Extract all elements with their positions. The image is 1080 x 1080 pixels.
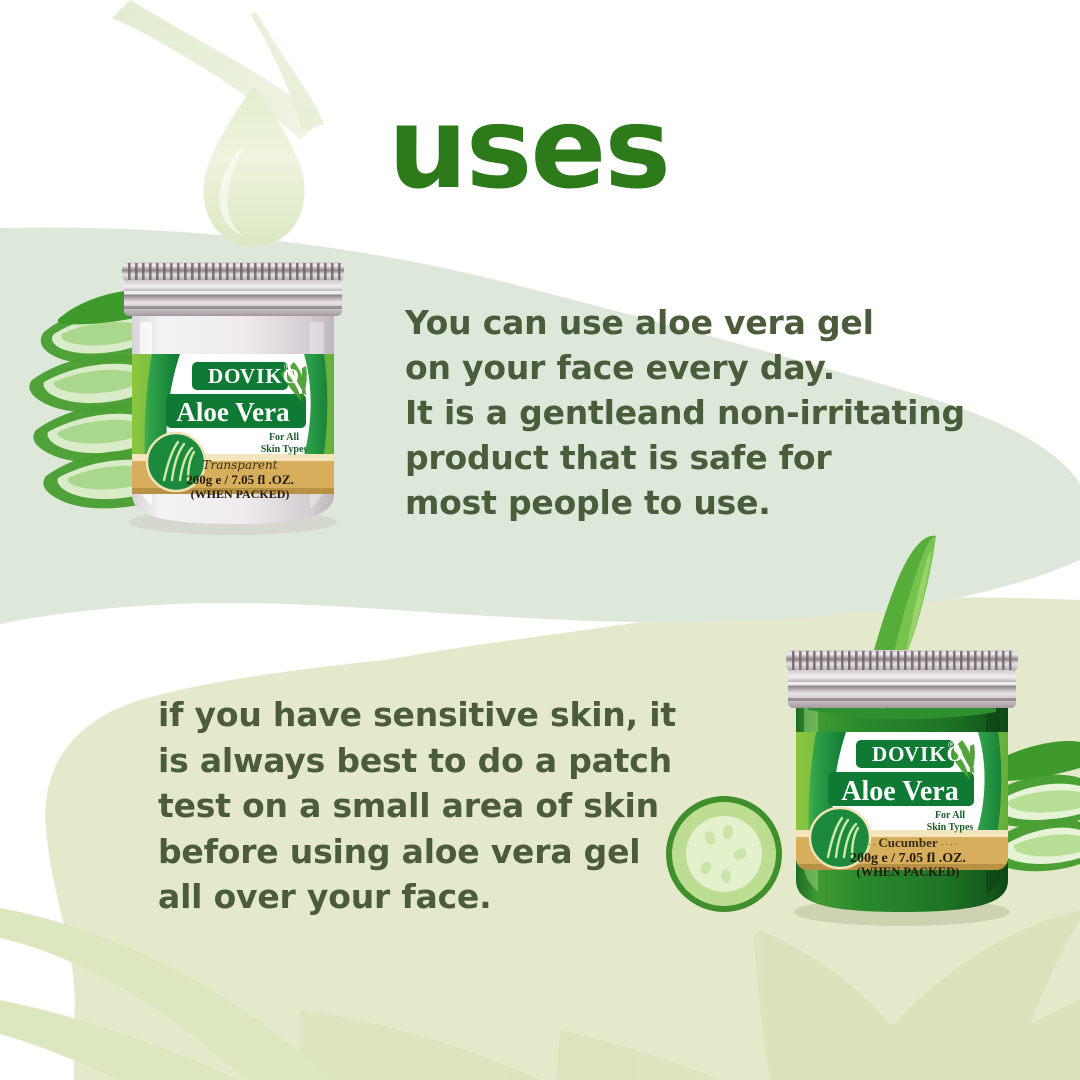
variant-name: Transparent	[202, 458, 277, 472]
paragraph-line: is always best to do a patch	[158, 738, 676, 784]
page-title: uses	[388, 93, 669, 205]
net-weight: 200g e / 7.05 fl .OZ.	[186, 472, 294, 487]
brand-mark: DO	[872, 742, 906, 766]
skin-line-2: Skin Types	[261, 444, 308, 455]
skin-line-1: For All	[935, 810, 965, 821]
paragraph-line: test on a small area of skin	[158, 783, 676, 829]
product-title: Aloe Vera	[841, 776, 958, 807]
paragraph-line: product that is safe for	[405, 435, 965, 480]
uses-paragraph-bottom: if you have sensitive skin, it is always…	[158, 692, 676, 920]
silver-screw-lid	[122, 262, 344, 316]
net-weight: 200g e / 7.05 fl .OZ.	[850, 851, 966, 866]
paragraph-line: before using aloe vera gel	[158, 829, 676, 875]
product-script: Gel	[878, 805, 917, 831]
product-image-cucumber: DO VIKO ® Aloe Vera Gel For All Skin Typ…	[700, 520, 1080, 940]
brand-name: VIKO	[904, 742, 964, 766]
paragraph-line: on your face every day.	[405, 345, 965, 390]
product-script: Gel	[214, 427, 252, 452]
paragraph-line: if you have sensitive skin, it	[158, 692, 676, 738]
product-title: Aloe Vera	[176, 397, 290, 427]
variant-name: Cucumber	[878, 835, 937, 850]
skin-line-1: For All	[269, 432, 299, 443]
paragraph-line: It is a gentleand non-irritating	[405, 390, 965, 435]
registered-mark: ®	[284, 362, 291, 372]
paragraph-line: most people to use.	[405, 480, 965, 525]
registered-mark: ®	[948, 740, 955, 750]
poster-canvas: uses You can use aloe vera gel on your f…	[0, 0, 1080, 1080]
aloe-gel-droplet	[112, 0, 324, 246]
brand-mark: DO	[208, 364, 242, 388]
skin-line-2: Skin Types	[927, 822, 974, 833]
variant-dots-left: ····	[859, 839, 877, 849]
paragraph-line: all over your face.	[158, 874, 676, 920]
brand-name: VIKO	[240, 364, 300, 388]
variant-dots-right: ····	[941, 839, 959, 849]
uses-paragraph-top: You can use aloe vera gel on your face e…	[405, 300, 965, 525]
cucumber-slice	[666, 796, 782, 912]
packed-note: (WHEN PACKED)	[191, 487, 290, 501]
paragraph-line: You can use aloe vera gel	[405, 300, 965, 345]
silver-screw-lid	[786, 650, 1018, 708]
product-image-transparent: DO VIKO ® Aloe Vera Gel For All Skin Typ…	[28, 250, 388, 550]
packed-note: (WHEN PACKED)	[857, 865, 960, 879]
